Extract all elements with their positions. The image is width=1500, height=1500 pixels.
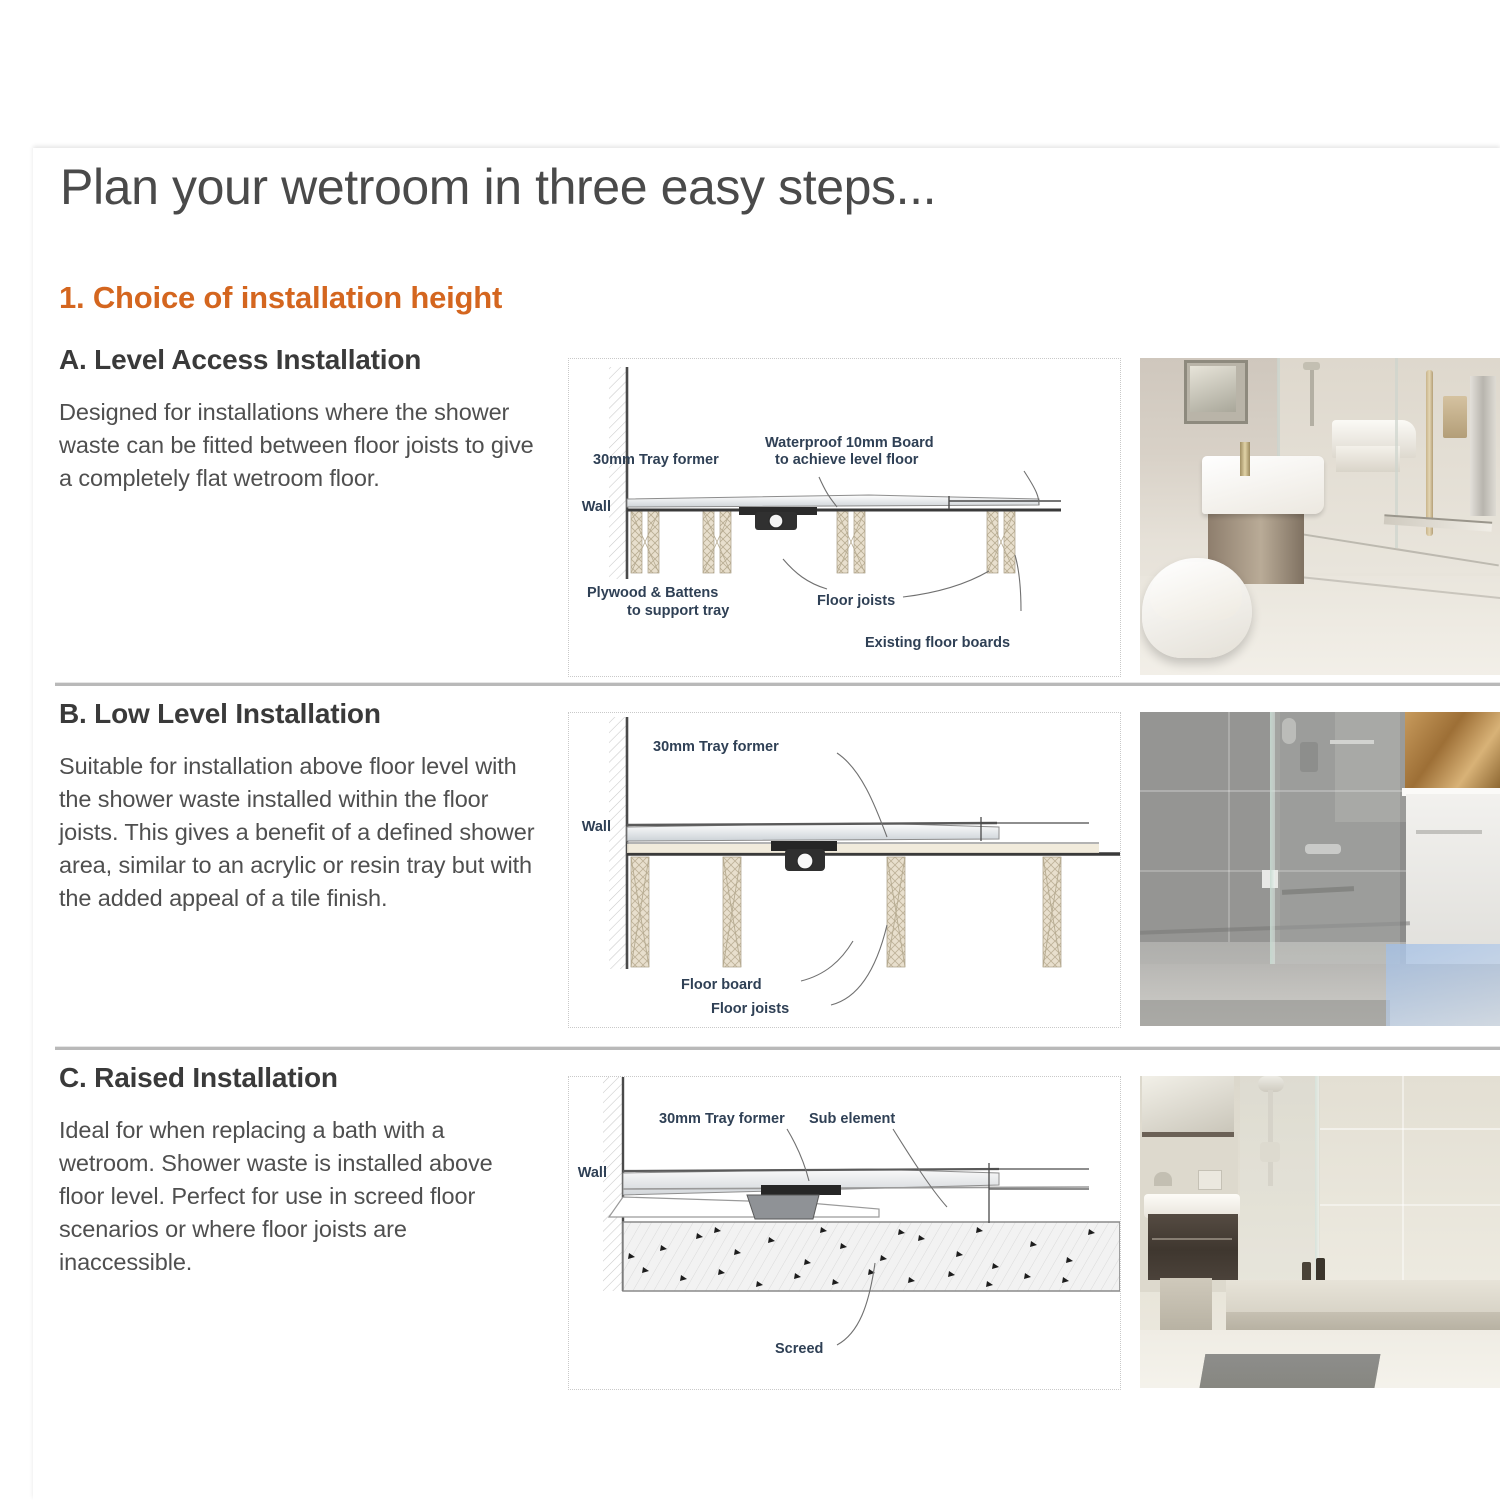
- photo-c-drawer-line: [1152, 1238, 1232, 1240]
- option-c-text-column: C. Raised Installation Ideal for when re…: [59, 1062, 539, 1278]
- level-access-cross-section-svg: Wall 30mm Tray former Waterproof 10mm Bo…: [569, 359, 1120, 676]
- option-b-body: Suitable for installation above floor le…: [59, 750, 539, 914]
- raised-cross-section-svg: Wall 30mm Tray former Sub element Screed: [569, 1077, 1120, 1389]
- photo-b-glass-face: [1275, 712, 1400, 984]
- photo-a-tap: [1240, 442, 1250, 476]
- option-b-photo: [1140, 712, 1500, 1026]
- photo-c-wall-switch: [1198, 1170, 1222, 1190]
- photo-a-mirror-glass: [1190, 366, 1236, 412]
- divider-b-c: [55, 1046, 1500, 1050]
- diagram-c-label-tray-former: 30mm Tray former: [659, 1111, 785, 1127]
- photo-c-tap: [1154, 1172, 1172, 1186]
- option-a-diagram: Wall 30mm Tray former Waterproof 10mm Bo…: [568, 358, 1121, 677]
- photo-a-shower-riser: [1310, 366, 1314, 426]
- option-c-heading: C. Raised Installation: [59, 1062, 539, 1094]
- photo-a-basin: [1202, 456, 1324, 514]
- photo-c-tray-front: [1226, 1312, 1500, 1332]
- photo-b-tile-a: [1140, 712, 1280, 942]
- diagram-c-label-screed: Screed: [775, 1341, 823, 1357]
- option-b-heading: B. Low Level Installation: [59, 698, 539, 730]
- document-page: Plan your wetroom in three easy steps...…: [33, 148, 1500, 1500]
- diagram-a-label-level-floor: to achieve level floor: [775, 452, 919, 468]
- diagram-a-label-tray-former: 30mm Tray former: [593, 452, 719, 468]
- diagram-b-label-tray-former: 30mm Tray former: [653, 739, 779, 755]
- option-a-heading: A. Level Access Installation: [59, 344, 539, 376]
- diagram-a-label-wall: Wall: [582, 499, 611, 515]
- photo-c-grout-1: [1320, 1128, 1500, 1130]
- diagram-c-label-sub-element: Sub element: [809, 1111, 895, 1127]
- diagram-b-label-wall: Wall: [582, 819, 611, 835]
- diagram-a-label-floor-joists: Floor joists: [817, 593, 895, 609]
- photo-c-pedestal: [1160, 1278, 1212, 1330]
- photo-b-drawer-handle: [1416, 830, 1482, 834]
- diagram-a-label-waterproof-board: Waterproof 10mm Board: [765, 435, 934, 451]
- divider-a-b: [55, 682, 1500, 686]
- diagram-b-label-floor-joists: Floor joists: [711, 1001, 789, 1017]
- option-b-diagram: Wall 30mm Tray former Floor board Floor …: [568, 712, 1121, 1028]
- diagram-c-label-wall: Wall: [578, 1165, 607, 1181]
- installation-option-c: C. Raised Installation Ideal for when re…: [33, 1062, 1500, 1422]
- photo-a-seat-base: [1336, 446, 1400, 472]
- diagram-a-label-plywood-battens: Plywood & Battens: [587, 585, 718, 601]
- diagram-a-label-existing-floor-boards: Existing floor boards: [865, 635, 1010, 651]
- option-c-diagram: Wall 30mm Tray former Sub element Screed: [568, 1076, 1121, 1390]
- photo-b-blue-reflection: [1386, 944, 1500, 1026]
- option-a-photo: [1140, 358, 1500, 675]
- diagram-b-label-floor-board: Floor board: [681, 977, 762, 993]
- photo-b-wood-panel: [1405, 712, 1500, 790]
- section-heading-step-1: 1. Choice of installation height: [59, 280, 502, 316]
- photo-b-grout-3: [1228, 712, 1230, 942]
- photo-a-shower-head: [1303, 362, 1320, 370]
- installation-options-list: A. Level Access Installation Designed fo…: [33, 344, 1500, 1422]
- low-level-cross-section-svg: Wall 30mm Tray former Floor board Floor …: [569, 713, 1120, 1027]
- photo-c-wall-right: [1320, 1076, 1500, 1281]
- photo-c-mirror: [1142, 1076, 1234, 1137]
- photo-b-floor-shadow: [1140, 1000, 1390, 1026]
- photo-a-toilet-lid: [1150, 562, 1242, 620]
- photo-a-shower-control: [1443, 396, 1467, 438]
- installation-option-b: B. Low Level Installation Suitable for i…: [33, 698, 1500, 1062]
- photo-c-grout-2: [1320, 1204, 1500, 1206]
- photo-b-glass-screen: [1270, 712, 1275, 988]
- photo-c-bath-mat: [1199, 1354, 1381, 1388]
- option-c-body: Ideal for when replacing a bath with a w…: [59, 1114, 539, 1278]
- option-b-text-column: B. Low Level Installation Suitable for i…: [59, 698, 539, 914]
- diagram-a-label-support-tray: to support tray: [627, 603, 729, 619]
- photo-c-grout-3: [1402, 1076, 1404, 1281]
- page-title: Plan your wetroom in three easy steps...: [60, 158, 936, 216]
- installation-option-a: A. Level Access Installation Designed fo…: [33, 344, 1500, 698]
- photo-c-vanity-unit: [1148, 1214, 1238, 1280]
- option-a-text-column: A. Level Access Installation Designed fo…: [59, 344, 539, 495]
- option-c-photo: [1140, 1076, 1500, 1388]
- option-a-body: Designed for installations where the sho…: [59, 396, 539, 495]
- photo-a-towel: [1470, 376, 1496, 516]
- photo-a-grab-rail: [1426, 370, 1433, 536]
